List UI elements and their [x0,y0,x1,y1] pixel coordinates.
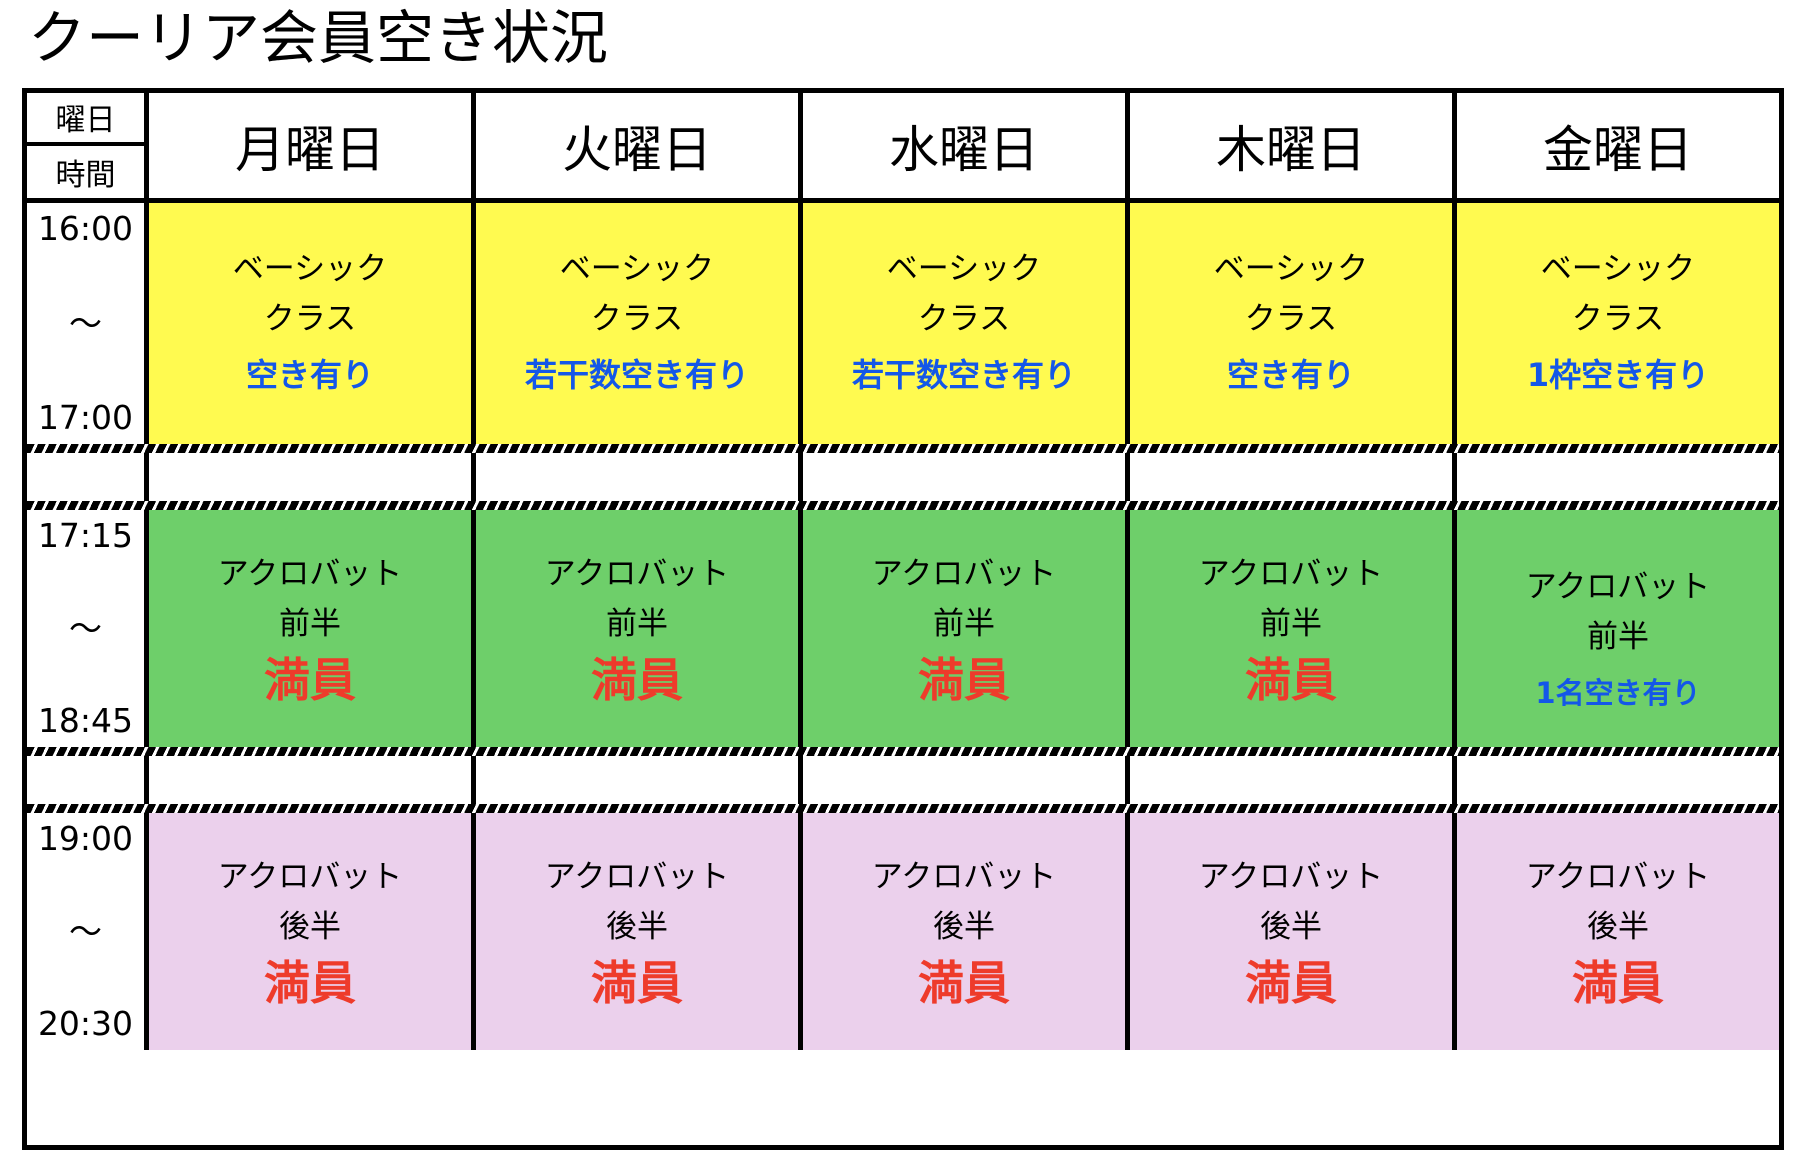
header-corner: 曜日 時間 [27,93,149,198]
class-name-line2: クラス [1572,294,1664,344]
class-name-line2: 後半 [606,902,668,952]
schedule-page: クーリア会員空き状況 曜日 時間 月曜日 火曜日 水曜日 木曜日 金曜日 16:… [0,0,1808,1170]
break-cell [476,453,803,501]
table-row: 16:00 ～ 17:00 ベーシック クラス 空き有り ベーシック クラス 若… [27,203,1779,444]
day-header-tuesday: 火曜日 [476,93,803,198]
class-name-line2: 前半 [1587,612,1649,662]
class-name-line2: 前半 [1260,599,1322,649]
class-name-line1: ベーシック [1541,244,1695,294]
class-name-line2: 後半 [279,902,341,952]
status-badge: 満員 [1572,954,1664,1012]
time-start: 19:00 [38,819,133,859]
day-header-wednesday: 水曜日 [803,93,1130,198]
time-label-row-3: 19:00 ～ 20:30 [27,813,149,1050]
slot-thursday-acrobat-first[interactable]: アクロバット 前半 満員 [1130,510,1457,747]
time-label-row-2: 17:15 ～ 18:45 [27,510,149,747]
status-badge: 満員 [1245,651,1337,709]
class-name-line1: アクロバット [1199,549,1383,599]
class-name-line1: アクロバット [545,549,729,599]
day-header-friday: 金曜日 [1457,93,1779,198]
status-badge: 満員 [1245,954,1337,1012]
class-name-line2: 後半 [933,902,995,952]
class-name-line1: アクロバット [1199,852,1383,902]
slot-tuesday-basic[interactable]: ベーシック クラス 若干数空き有り [476,203,803,444]
table-row: 19:00 ～ 20:30 アクロバット 後半 満員 アクロバット 後半 満員 [27,813,1779,1050]
page-title: クーリア会員空き状況 [28,2,608,74]
status-badge: 満員 [591,651,683,709]
slot-thursday-acrobat-second[interactable]: アクロバット 後半 満員 [1130,813,1457,1050]
break-cell [149,453,476,501]
time-separator: ～ [69,912,102,952]
slot-wednesday-acrobat-first[interactable]: アクロバット 前半 満員 [803,510,1130,747]
status-badge: 満員 [264,954,356,1012]
break-cell [476,756,803,804]
row-2-cells: アクロバット 前半 満員 アクロバット 前半 満員 アクロバット 前半 満員 [149,510,1779,747]
table-body: 16:00 ～ 17:00 ベーシック クラス 空き有り ベーシック クラス 若… [27,203,1779,1145]
status-badge: 1枠空き有り [1527,346,1709,404]
day-header-monday: 月曜日 [149,93,476,198]
class-name-line2: 前半 [279,599,341,649]
time-end: 17:00 [38,398,133,438]
class-name-line2: クラス [264,294,356,344]
time-start: 16:00 [38,209,133,249]
status-badge: 満員 [264,651,356,709]
slot-tuesday-acrobat-first[interactable]: アクロバット 前半 満員 [476,510,803,747]
class-name-line2: クラス [1245,294,1337,344]
slot-friday-acrobat-first[interactable]: アクロバット 前半 1名空き有り [1457,510,1779,747]
slot-tuesday-acrobat-second[interactable]: アクロバット 後半 満員 [476,813,803,1050]
class-name-line1: アクロバット [545,852,729,902]
row-3-cells: アクロバット 後半 満員 アクロバット 後半 満員 アクロバット 後半 満員 [149,813,1779,1050]
slot-monday-acrobat-second[interactable]: アクロバット 後半 満員 [149,813,476,1050]
table-header-row: 曜日 時間 月曜日 火曜日 水曜日 木曜日 金曜日 [27,93,1779,203]
break-cell [1130,756,1457,804]
status-badge: 若干数空き有り [525,346,749,404]
slot-friday-acrobat-second[interactable]: アクロバット 後半 満員 [1457,813,1779,1050]
header-corner-day-label: 曜日 [27,93,144,146]
time-label-row-1: 16:00 ～ 17:00 [27,203,149,444]
day-header-thursday: 木曜日 [1130,93,1457,198]
time-start: 17:15 [38,516,133,556]
break-cells [149,756,1779,804]
status-badge: 若干数空き有り [852,346,1076,404]
break-cell [803,453,1130,501]
class-name-line1: アクロバット [1526,852,1710,902]
time-end: 20:30 [38,1004,133,1044]
time-separator: ～ [69,304,102,344]
slot-friday-basic[interactable]: ベーシック クラス 1枠空き有り [1457,203,1779,444]
slot-thursday-basic[interactable]: ベーシック クラス 空き有り [1130,203,1457,444]
class-name-line1: アクロバット [872,852,1056,902]
break-row-2 [27,747,1779,813]
schedule-table: 曜日 時間 月曜日 火曜日 水曜日 木曜日 金曜日 16:00 ～ 17:00 [22,88,1784,1150]
class-name-line2: 前半 [933,599,995,649]
slot-wednesday-acrobat-second[interactable]: アクロバット 後半 満員 [803,813,1130,1050]
slot-monday-acrobat-first[interactable]: アクロバット 前半 満員 [149,510,476,747]
class-name-line1: ベーシック [233,244,387,294]
break-cell [1130,453,1457,501]
class-name-line2: 後半 [1587,902,1649,952]
break-cell [1457,756,1779,804]
class-name-line1: ベーシック [887,244,1041,294]
time-separator: ～ [69,609,102,649]
break-time-spacer [27,756,149,804]
header-corner-time-label: 時間 [27,146,144,199]
row-1-cells: ベーシック クラス 空き有り ベーシック クラス 若干数空き有り ベーシック ク… [149,203,1779,444]
class-name-line2: クラス [918,294,1010,344]
break-cell [149,756,476,804]
break-cell [803,756,1130,804]
status-badge: 1名空き有り [1535,664,1700,722]
break-row-1 [27,444,1779,510]
slot-monday-basic[interactable]: ベーシック クラス 空き有り [149,203,476,444]
table-row: 17:15 ～ 18:45 アクロバット 前半 満員 アクロバット 前半 満員 [27,510,1779,747]
class-name-line1: アクロバット [1526,562,1710,612]
class-name-line1: ベーシック [1214,244,1368,294]
break-time-spacer [27,453,149,501]
day-header-cells: 月曜日 火曜日 水曜日 木曜日 金曜日 [149,93,1779,198]
class-name-line1: ベーシック [560,244,714,294]
status-badge: 満員 [591,954,683,1012]
break-cell [1457,453,1779,501]
status-badge: 満員 [918,954,1010,1012]
class-name-line2: クラス [591,294,683,344]
slot-wednesday-basic[interactable]: ベーシック クラス 若干数空き有り [803,203,1130,444]
break-cells [149,453,1779,501]
class-name-line1: アクロバット [218,852,402,902]
status-badge: 空き有り [246,346,374,404]
class-name-line1: アクロバット [218,549,402,599]
status-badge: 空き有り [1227,346,1355,404]
time-end: 18:45 [38,701,133,741]
class-name-line2: 前半 [606,599,668,649]
status-badge: 満員 [918,651,1010,709]
class-name-line1: アクロバット [872,549,1056,599]
class-name-line2: 後半 [1260,902,1322,952]
